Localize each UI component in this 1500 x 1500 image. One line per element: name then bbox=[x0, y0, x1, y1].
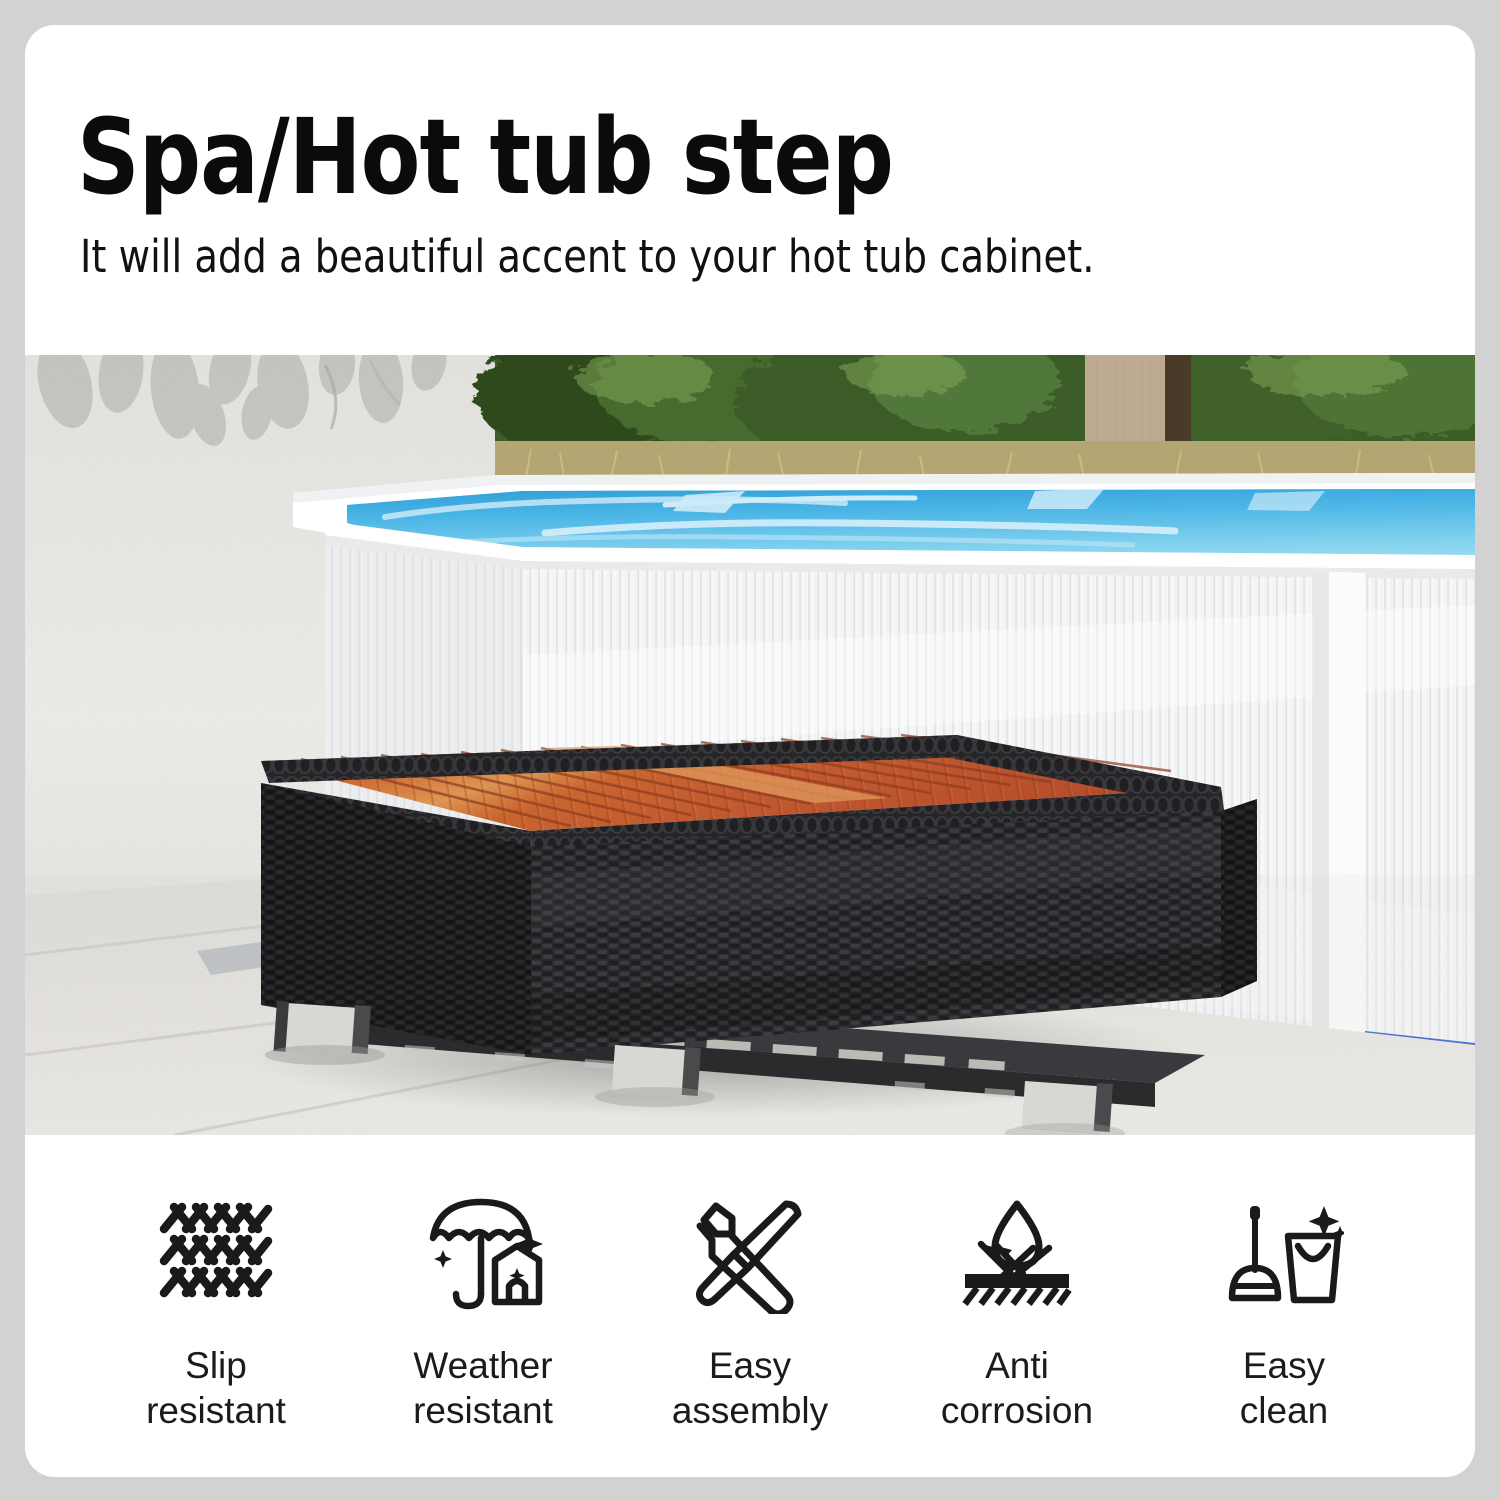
product-photo bbox=[25, 355, 1475, 1135]
weave-pattern-icon bbox=[152, 1195, 280, 1317]
feature-anti-corrosion: Anti corrosion bbox=[902, 1195, 1132, 1433]
feature-label: Slip resistant bbox=[146, 1343, 286, 1433]
feature-weather-resistant: Weather resistant bbox=[368, 1195, 598, 1433]
water-repellent-surface-icon bbox=[953, 1195, 1081, 1317]
feature-label: Easy assembly bbox=[672, 1343, 828, 1433]
feature-highlights: Slip resistant bbox=[25, 1135, 1475, 1477]
page-subtitle: It will add a beautiful accent to your h… bbox=[80, 230, 1094, 283]
umbrella-house-icon bbox=[419, 1195, 547, 1317]
feature-label: Weather resistant bbox=[413, 1343, 553, 1433]
mop-bucket-icon bbox=[1220, 1195, 1348, 1317]
header-section: Spa/Hot tub step It will add a beautiful… bbox=[25, 25, 1475, 355]
page-title: Spa/Hot tub step bbox=[77, 103, 893, 212]
feature-label: Easy clean bbox=[1240, 1343, 1328, 1433]
feature-easy-clean: Easy clean bbox=[1169, 1195, 1399, 1433]
wrench-screwdriver-icon bbox=[686, 1195, 814, 1317]
feature-slip-resistant: Slip resistant bbox=[101, 1195, 331, 1433]
feature-easy-assembly: Easy assembly bbox=[635, 1195, 865, 1433]
feature-label: Anti corrosion bbox=[941, 1343, 1093, 1433]
product-info-card: Spa/Hot tub step It will add a beautiful… bbox=[25, 25, 1475, 1477]
